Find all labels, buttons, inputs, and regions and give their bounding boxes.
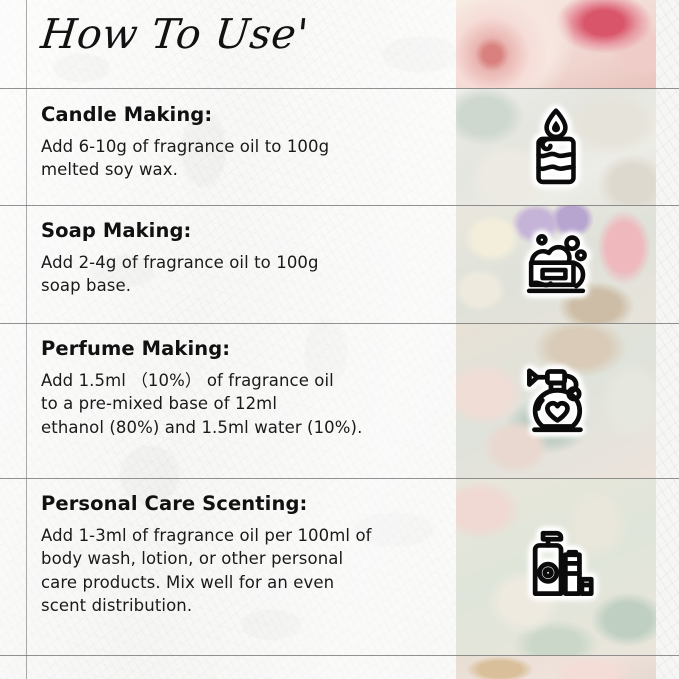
photo-band-soap [456, 205, 656, 323]
photo-band-bottom [456, 655, 656, 679]
photo-band-perfume [456, 323, 656, 478]
photo-band-candle [456, 88, 656, 205]
section-body: Add 6-10g of fragrance oil to 100g melte… [41, 135, 441, 182]
section-body: Add 2-4g of fragrance oil to 100g soap b… [41, 251, 441, 298]
section-heading: Candle Making: [41, 103, 441, 126]
page-title: How To Use' [39, 14, 310, 55]
section-personal-care-scenting: Personal Care Scenting: Add 1-3ml of fra… [41, 492, 441, 618]
text-content-column: How To Use' Candle Making: Add 6-10g of … [0, 0, 456, 679]
right-edge-strip [656, 0, 679, 679]
section-body: Add 1.5ml （10%） of fragrance oil to a pr… [41, 369, 441, 439]
section-perfume-making: Perfume Making: Add 1.5ml （10%） of fragr… [41, 337, 441, 439]
photo-band-personal-care [456, 478, 656, 655]
section-soap-making: Soap Making: Add 2-4g of fragrance oil t… [41, 219, 441, 298]
floral-photo-column [456, 0, 656, 679]
section-heading: Personal Care Scenting: [41, 492, 441, 515]
section-candle-making: Candle Making: Add 6-10g of fragrance oi… [41, 103, 441, 182]
how-to-use-infographic: How To Use' Candle Making: Add 6-10g of … [0, 0, 679, 679]
section-heading: Soap Making: [41, 219, 441, 242]
section-body: Add 1-3ml of fragrance oil per 100ml of … [41, 524, 441, 618]
photo-band-roses [456, 0, 656, 88]
section-heading: Perfume Making: [41, 337, 441, 360]
